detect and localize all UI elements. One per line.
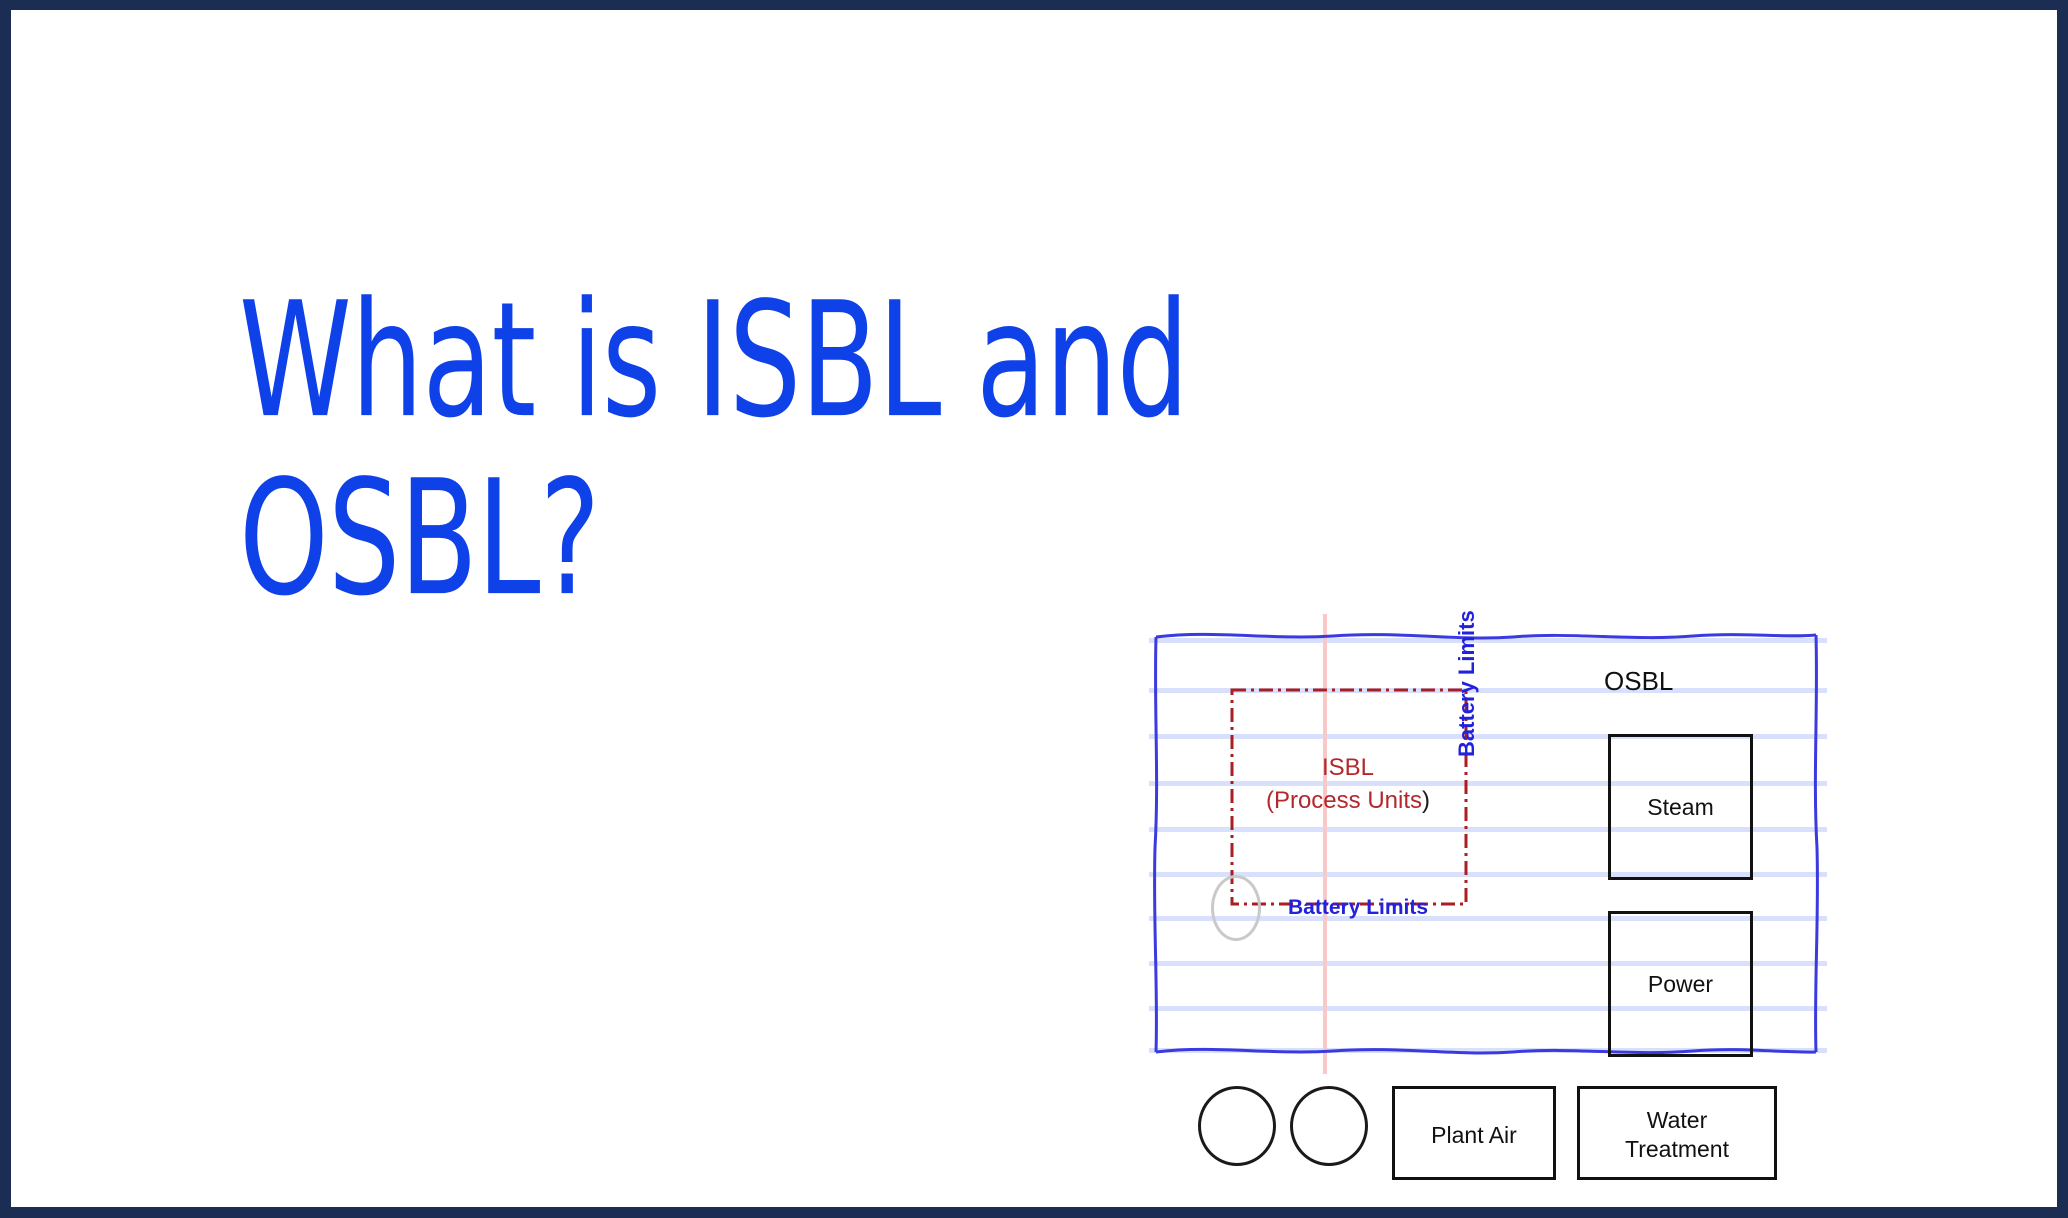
faint-vessel — [1211, 875, 1261, 941]
isbl-osbl-diagram: ISBL (Process Units) Battery Limits Batt… — [1149, 624, 1827, 1064]
unit-box-steam: Steam — [1608, 734, 1753, 880]
vessel-2 — [1290, 1086, 1368, 1166]
rule-line — [1149, 638, 1827, 643]
battery-limits-vertical-label: Battery Limits — [1454, 610, 1480, 757]
slide-frame: What is ISBL and OSBL? — [0, 0, 2068, 1218]
isbl-label: ISBL (Process Units) — [1232, 751, 1464, 817]
vessel-1 — [1198, 1086, 1276, 1166]
unit-box-water-treatment: Water Treatment — [1577, 1086, 1777, 1180]
osbl-label: OSBL — [1604, 666, 1673, 697]
page-title: What is ISBL and OSBL? — [239, 272, 1189, 628]
unit-box-power: Power — [1608, 911, 1753, 1057]
isbl-label-text: ISBL (Process Units — [1266, 754, 1422, 814]
unit-box-plant-air: Plant Air — [1392, 1086, 1556, 1180]
isbl-label-paren: ) — [1422, 787, 1430, 814]
slide-canvas: What is ISBL and OSBL? — [11, 10, 2057, 1207]
battery-limits-horizontal-label: Battery Limits — [1288, 896, 1428, 920]
